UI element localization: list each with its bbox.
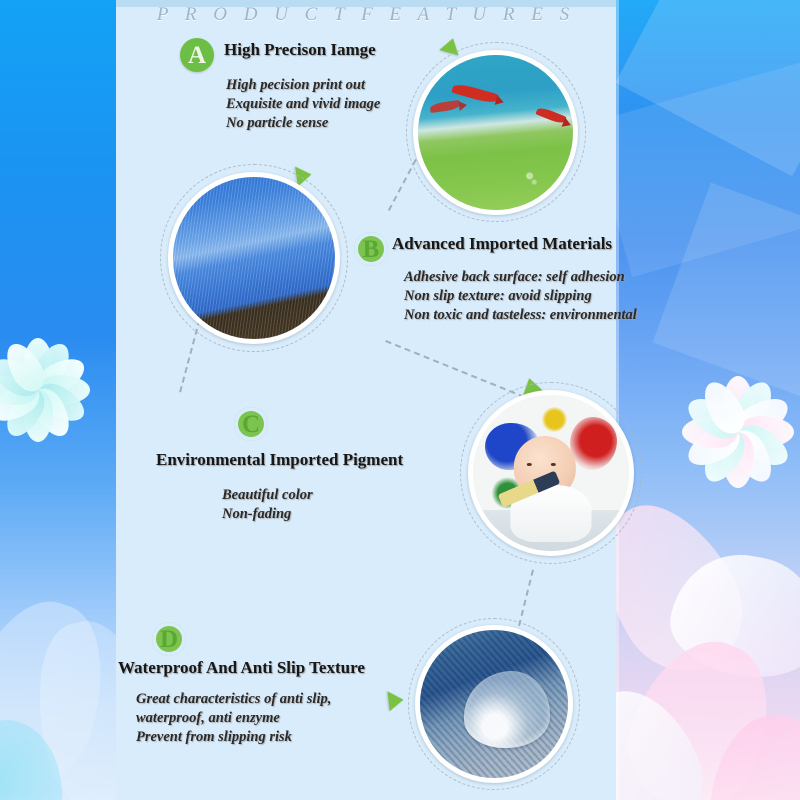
feature-c-line-2: Non-fading: [222, 505, 291, 524]
product-features-poster: P R O D U C T F E A T U R E S A High Pr: [0, 0, 800, 800]
feature-d-line-2: waterproof, anti enzyme: [136, 709, 280, 728]
feature-b-line-2: Non slip texture: avoid slipping: [404, 287, 592, 306]
feature-c-heading: Environmental Imported Pigment: [156, 450, 403, 470]
fish-water-illustration: [418, 55, 573, 210]
feature-b-heading: Advanced Imported Materials: [392, 234, 612, 254]
paint-splatter-yellow: [542, 407, 567, 432]
page-title: P R O D U C T F E A T U R E S: [116, 4, 616, 26]
feature-a-line-2: Exquisite and vivid image: [226, 95, 380, 114]
badge-b-label: B: [363, 237, 380, 262]
badge-d: D: [152, 622, 186, 656]
photo-c-image: [473, 395, 629, 551]
photo-b: [168, 172, 340, 344]
paint-splatter-red: [570, 417, 617, 470]
baby-painting-illustration: [473, 395, 629, 551]
badge-a: A: [180, 38, 214, 72]
right-decorative-border: [616, 0, 800, 800]
water-droplet: [464, 671, 550, 748]
photo-a-image: [418, 55, 573, 210]
feature-d-line-1: Great characteristics of anti slip,: [136, 690, 331, 709]
feature-d-line-3: Prevent from slipping risk: [136, 728, 292, 747]
arrow-icon-d: [387, 690, 404, 711]
fish-shape-2: [430, 99, 461, 112]
photo-b-image: [173, 177, 335, 339]
feature-b-line-3: Non toxic and tasteless: environmental: [404, 306, 637, 325]
fish-shape-3: [535, 106, 566, 126]
feature-d-heading: Waterproof And Anti Slip Texture: [118, 658, 365, 678]
photo-d-image: [420, 630, 568, 778]
feature-b-line-1: Adhesive back surface: self adhesion: [404, 268, 625, 287]
content-panel: P R O D U C T F E A T U R E S A High Pr: [116, 0, 616, 800]
badge-b: B: [354, 232, 388, 266]
photo-d: [415, 625, 573, 783]
feature-a-line-1: High pecision print out: [226, 76, 365, 95]
feature-c-line-1: Beautiful color: [222, 486, 313, 505]
baby-eye-left: [527, 463, 532, 466]
baby-eye-right: [551, 463, 556, 466]
waterproof-droplet-illustration: [420, 630, 568, 778]
photo-c: [468, 390, 634, 556]
fabric-texture-illustration: [173, 177, 335, 339]
badge-c-label: C: [242, 412, 260, 437]
badge-d-label: D: [160, 627, 178, 652]
feature-a-heading: High Precison Iamge: [224, 40, 376, 60]
badge-c: C: [234, 407, 268, 441]
badge-a-label: A: [188, 43, 206, 68]
feature-a-line-3: No particle sense: [226, 114, 328, 133]
left-decorative-border: [0, 0, 116, 800]
photo-a: [413, 50, 578, 215]
